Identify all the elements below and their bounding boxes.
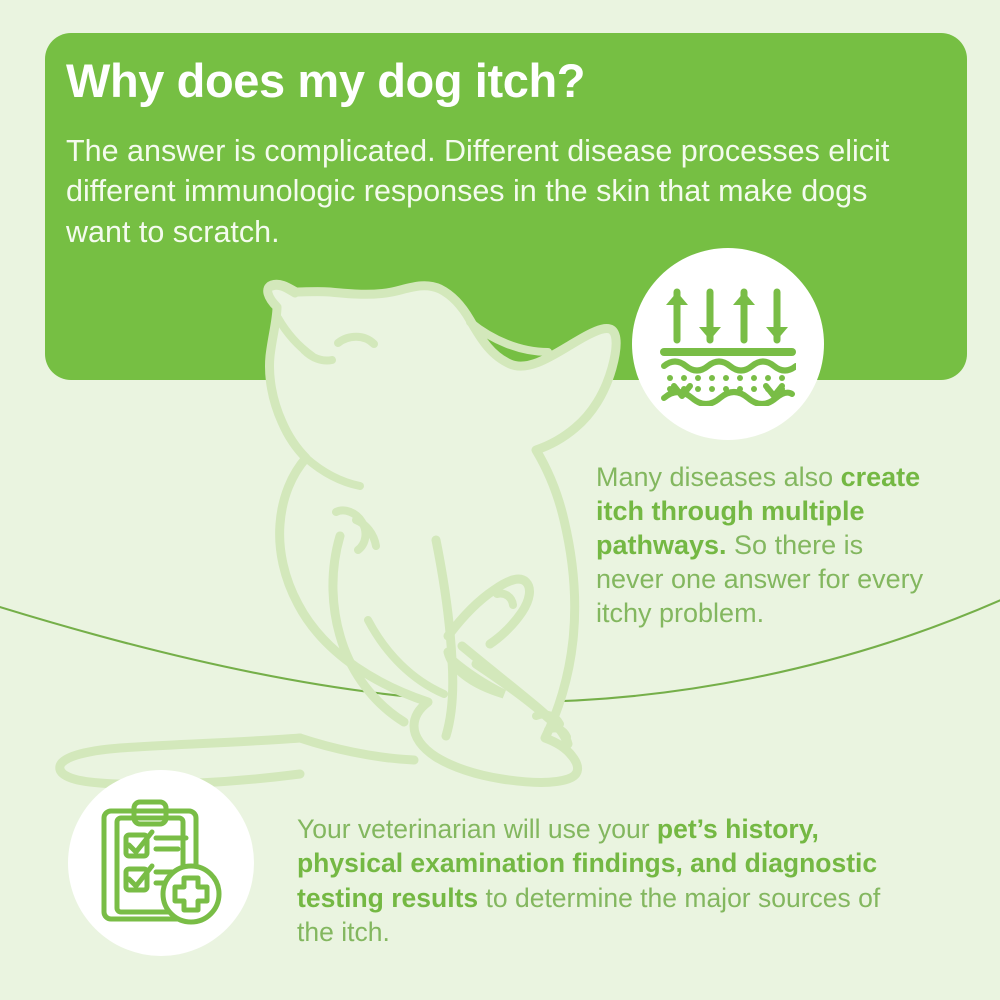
skin-icon-badge: [632, 248, 824, 440]
veterinarian-diagnostics-paragraph: Your veterinarian will use your pet’s hi…: [297, 812, 912, 950]
page-title: Why does my dog itch?: [66, 55, 585, 107]
clipboard-icon-badge: [68, 770, 254, 956]
skin-pathways-paragraph: Many diseases also create itch through m…: [596, 460, 926, 630]
vet-text-run-1: Your veterinarian will use your: [297, 814, 657, 844]
skin-text-run-1: Many diseases also: [596, 462, 841, 492]
skin-layers-arrows-icon: [660, 282, 796, 406]
infographic-poster: Why does my dog itch? The answer is comp…: [0, 0, 1000, 1000]
clipboard-checklist-medical-cross-icon: [98, 799, 224, 927]
header-intro-paragraph: The answer is complicated. Different dis…: [66, 131, 932, 252]
